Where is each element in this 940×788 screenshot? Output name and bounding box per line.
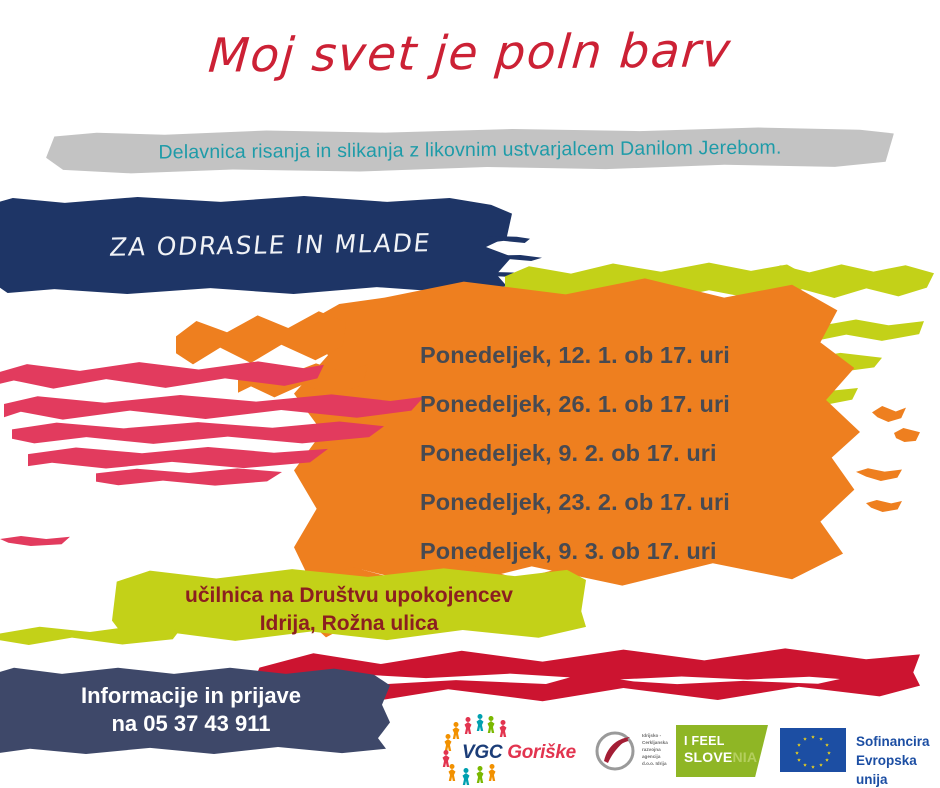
vgc-person-icon <box>444 734 452 751</box>
pink-brush-4 <box>28 446 328 470</box>
contact-line-1: Informacije in prijave <box>16 682 366 710</box>
eu-line-2: Evropska unija <box>856 751 930 788</box>
icra-swirl-icon <box>594 730 636 772</box>
vgc-person-icon <box>452 722 460 739</box>
vgc-person-icon <box>448 764 456 781</box>
eu-cofunding-logo: Sofinancira Evropska unija <box>780 726 930 778</box>
ifs-nia: NIA <box>732 749 757 765</box>
vgc-goriske-logo: VGC Goriške <box>430 716 580 788</box>
poster-canvas: Moj svet je poln barv Delavnica risanja … <box>0 0 940 788</box>
vgc-wordmark-vgc: VGC <box>462 742 502 763</box>
pink-brush-5 <box>96 468 282 486</box>
vgc-person-icon <box>462 768 470 785</box>
vgc-person-icon <box>476 714 484 731</box>
venue-block: učilnica na Društvu upokojencev Idrija, … <box>112 582 586 637</box>
orange-brush-left-1 <box>176 300 346 370</box>
vgc-person-icon <box>476 766 484 783</box>
i-feel-slovenia-logo: I FEEL SLOVENIA <box>676 725 768 777</box>
orange-fleck-3 <box>856 468 902 481</box>
date-item: Ponedeljek, 12. 1. ob 17. uri <box>420 342 840 369</box>
vgc-person-icon <box>488 764 496 781</box>
vgc-wordmark: VGC Goriške <box>462 742 576 764</box>
venue-line-2: Idrija, Rožna ulica <box>112 610 586 638</box>
vgc-person-icon <box>487 716 495 733</box>
eu-flag-icon <box>780 728 846 772</box>
date-item: Ponedeljek, 26. 1. ob 17. uri <box>420 391 840 418</box>
logo-strip: VGC Goriške Idrijsko - Cerkljanska razvo… <box>0 716 940 788</box>
vgc-person-icon <box>464 717 472 734</box>
ifs-love: SLOVE <box>684 749 732 765</box>
eu-line-1: Sofinancira <box>856 732 930 751</box>
ifs-line-2: SLOVENIA <box>684 749 757 765</box>
eu-text: Sofinancira Evropska unija <box>856 732 930 788</box>
orange-fleck-1 <box>872 406 906 422</box>
poster-subtitle: Delavnica risanja in slikanja z likovnim… <box>46 125 894 176</box>
vgc-person-icon <box>499 720 507 737</box>
date-item: Ponedeljek, 9. 2. ob 17. uri <box>420 440 840 467</box>
pink-fleck <box>0 536 70 546</box>
orange-fleck-4 <box>866 500 902 512</box>
venue-line-1: učilnica na Društvu upokojencev <box>112 582 586 610</box>
audience-label: ZA ODRASLE IN MLADE <box>108 227 512 262</box>
date-item: Ponedeljek, 9. 3. ob 17. uri <box>420 538 840 565</box>
date-item: Ponedeljek, 23. 2. ob 17. uri <box>420 489 840 516</box>
poster-title: Moj svet je poln barv <box>0 21 940 86</box>
ifs-line-1: I FEEL <box>684 734 725 748</box>
orange-fleck-2 <box>894 428 920 442</box>
dates-list: Ponedeljek, 12. 1. ob 17. uri Ponedeljek… <box>420 342 840 587</box>
vgc-wordmark-goriske: Goriške <box>502 742 576 763</box>
